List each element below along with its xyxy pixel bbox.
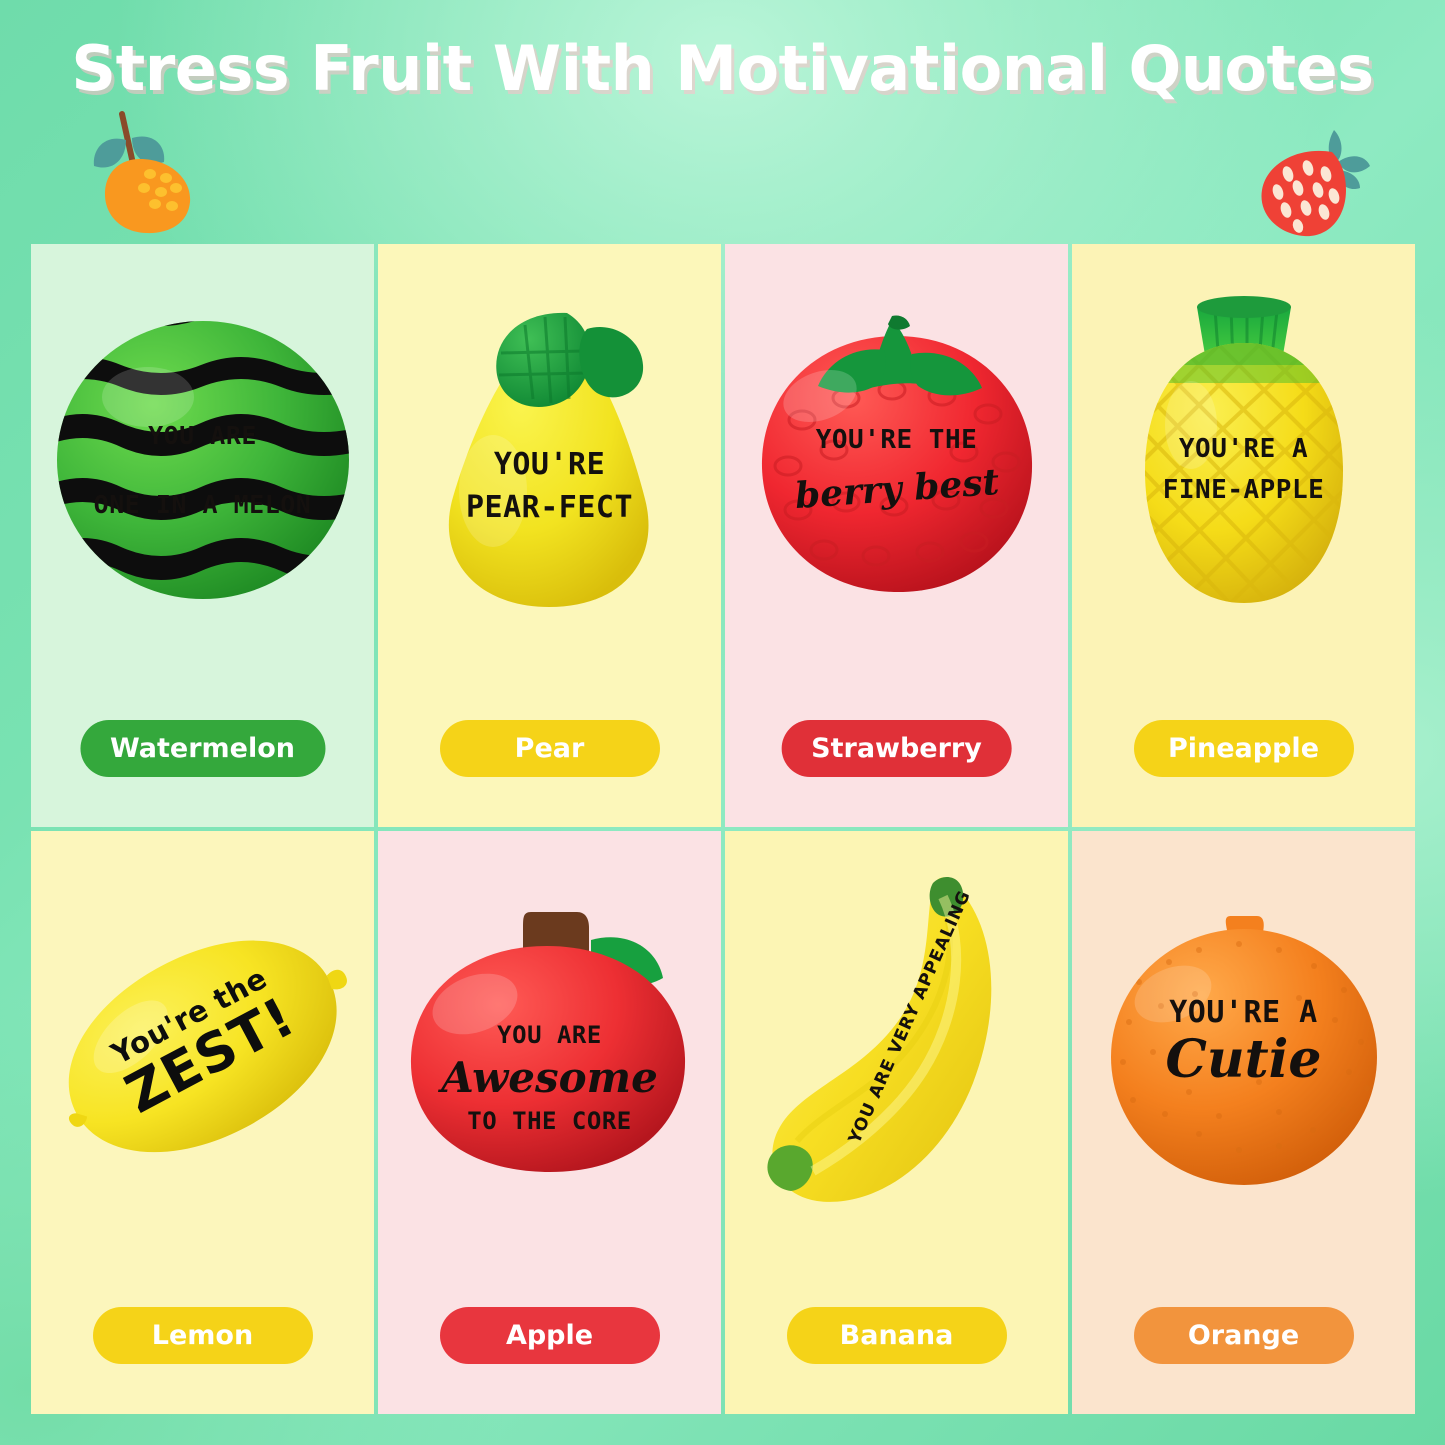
fruit-label-watermelon[interactable]: Watermelon <box>80 720 325 777</box>
fruit-label-banana[interactable]: Banana <box>787 1307 1007 1364</box>
fruit-card-banana[interactable]: YOU ARE VERY APPEALING Banana <box>725 831 1068 1414</box>
apple-quote-line-2: Awesome <box>441 1053 658 1102</box>
apple-stage: YOU ARE Awesome TO THE CORE <box>378 831 721 1262</box>
strawberry-illustration <box>742 310 1052 610</box>
orange-illustration <box>76 104 208 236</box>
fruit-label-apple[interactable]: Apple <box>440 1307 660 1364</box>
pear-stage: YOU'RE PEAR-FECT <box>378 244 721 675</box>
fruit-card-watermelon[interactable]: YOU ARE ONE IN A MELON Watermelon <box>31 244 374 827</box>
pineapple-quote-line-1: YOU'RE A <box>1179 434 1308 464</box>
fruit-card-grid: YOU ARE ONE IN A MELON Watermelon <box>31 244 1415 1414</box>
orange-stage: YOU'RE A Cutie <box>1072 831 1415 1262</box>
pineapple-quote-line-2: FINE-APPLE <box>1163 475 1325 505</box>
banana-stage: YOU ARE VERY APPEALING <box>725 831 1068 1262</box>
orange-quote-line-2: Cutie <box>1165 1029 1321 1090</box>
fruit-card-pineapple[interactable]: YOU'RE A FINE-APPLE Pineapple <box>1072 244 1415 827</box>
watermelon-quote-line-1: YOU ARE <box>148 421 257 450</box>
watermelon-illustration <box>53 315 353 605</box>
pear-quote-line-1: YOU'RE <box>494 447 605 482</box>
fruit-label-pear[interactable]: Pear <box>440 720 660 777</box>
fruit-label-orange[interactable]: Orange <box>1134 1307 1354 1364</box>
pear-quote-line-2: PEAR-FECT <box>466 490 633 525</box>
apple-quote-line-1: YOU ARE <box>497 1021 602 1049</box>
fruit-label-pineapple[interactable]: Pineapple <box>1134 720 1354 777</box>
strawberry-illustration <box>1248 122 1378 240</box>
fruit-card-apple[interactable]: YOU ARE Awesome TO THE CORE Apple <box>378 831 721 1414</box>
fruit-card-orange[interactable]: YOU'RE A Cutie Orange <box>1072 831 1415 1414</box>
fruit-card-lemon[interactable]: You're the ZEST! Lemon <box>31 831 374 1414</box>
page-title: Stress Fruit With Motivational Quotes <box>0 32 1445 105</box>
fruit-label-strawberry[interactable]: Strawberry <box>781 720 1012 777</box>
orange-quote-line-1: YOU'RE A <box>1169 995 1318 1030</box>
product-infographic: Stress Fruit With Motivational Quotes <box>0 0 1445 1445</box>
strawberry-stage: YOU'RE THE berry best <box>725 244 1068 675</box>
watermelon-quote-line-2: ONE IN A MELON <box>94 490 312 519</box>
fruit-card-pear[interactable]: YOU'RE PEAR-FECT Pear <box>378 244 721 827</box>
lemon-stage: You're the ZEST! <box>31 831 374 1262</box>
watermelon-stage: YOU ARE ONE IN A MELON <box>31 244 374 675</box>
strawberry-quote-line-1: YOU'RE THE <box>816 425 978 455</box>
fruit-label-lemon[interactable]: Lemon <box>93 1307 313 1364</box>
pineapple-stage: YOU'RE A FINE-APPLE <box>1072 244 1415 675</box>
apple-quote-line-3: TO THE CORE <box>467 1107 631 1135</box>
fruit-card-strawberry[interactable]: YOU'RE THE berry best Strawberry <box>725 244 1068 827</box>
